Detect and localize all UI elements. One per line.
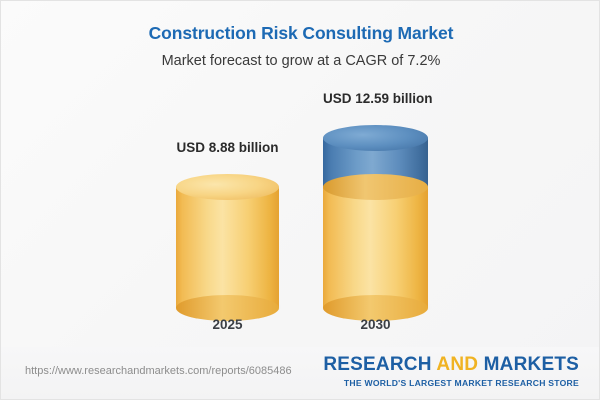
logo-word-research: RESEARCH [323, 354, 431, 375]
research-and-markets-logo[interactable]: RESEARCH AND MARKETS THE WORLD'S LARGEST… [323, 355, 579, 388]
cylinder-top-ellipse-2025 [176, 174, 279, 200]
cylinder-top-ellipse-2030 [323, 125, 428, 151]
bar-group-2030: USD 12.59 billion 2030 [323, 1, 428, 349]
cylinder-segment-base-2030 [323, 187, 428, 308]
report-url[interactable]: https://www.researchandmarkets.com/repor… [25, 365, 292, 377]
footer: https://www.researchandmarkets.com/repor… [1, 347, 600, 399]
cylinder-segment-divider-2030 [323, 174, 428, 200]
cylinder-body-base-2030 [323, 187, 428, 308]
category-label-2030: 2030 [323, 317, 428, 332]
cylinder-segment-base-2025 [176, 187, 279, 308]
logo-tagline: THE WORLD'S LARGEST MARKET RESEARCH STOR… [323, 378, 579, 388]
value-label-2025: USD 8.88 billion [176, 140, 279, 155]
logo-wordmark: RESEARCH AND MARKETS [323, 355, 579, 375]
cylinder-2030 [323, 138, 428, 308]
chart-plot-area: USD 8.88 billion 2025 USD 12.59 billion [1, 1, 600, 349]
logo-word-markets: MARKETS [484, 354, 579, 375]
value-label-2030: USD 12.59 billion [323, 91, 428, 106]
bar-group-2025: USD 8.88 billion 2025 [176, 1, 279, 349]
market-forecast-infographic: Construction Risk Consulting Market Mark… [0, 0, 600, 400]
cylinder-body-2025 [176, 187, 279, 308]
category-label-2025: 2025 [176, 317, 279, 332]
cylinder-2025 [176, 187, 279, 308]
logo-word-and: AND [436, 354, 478, 375]
